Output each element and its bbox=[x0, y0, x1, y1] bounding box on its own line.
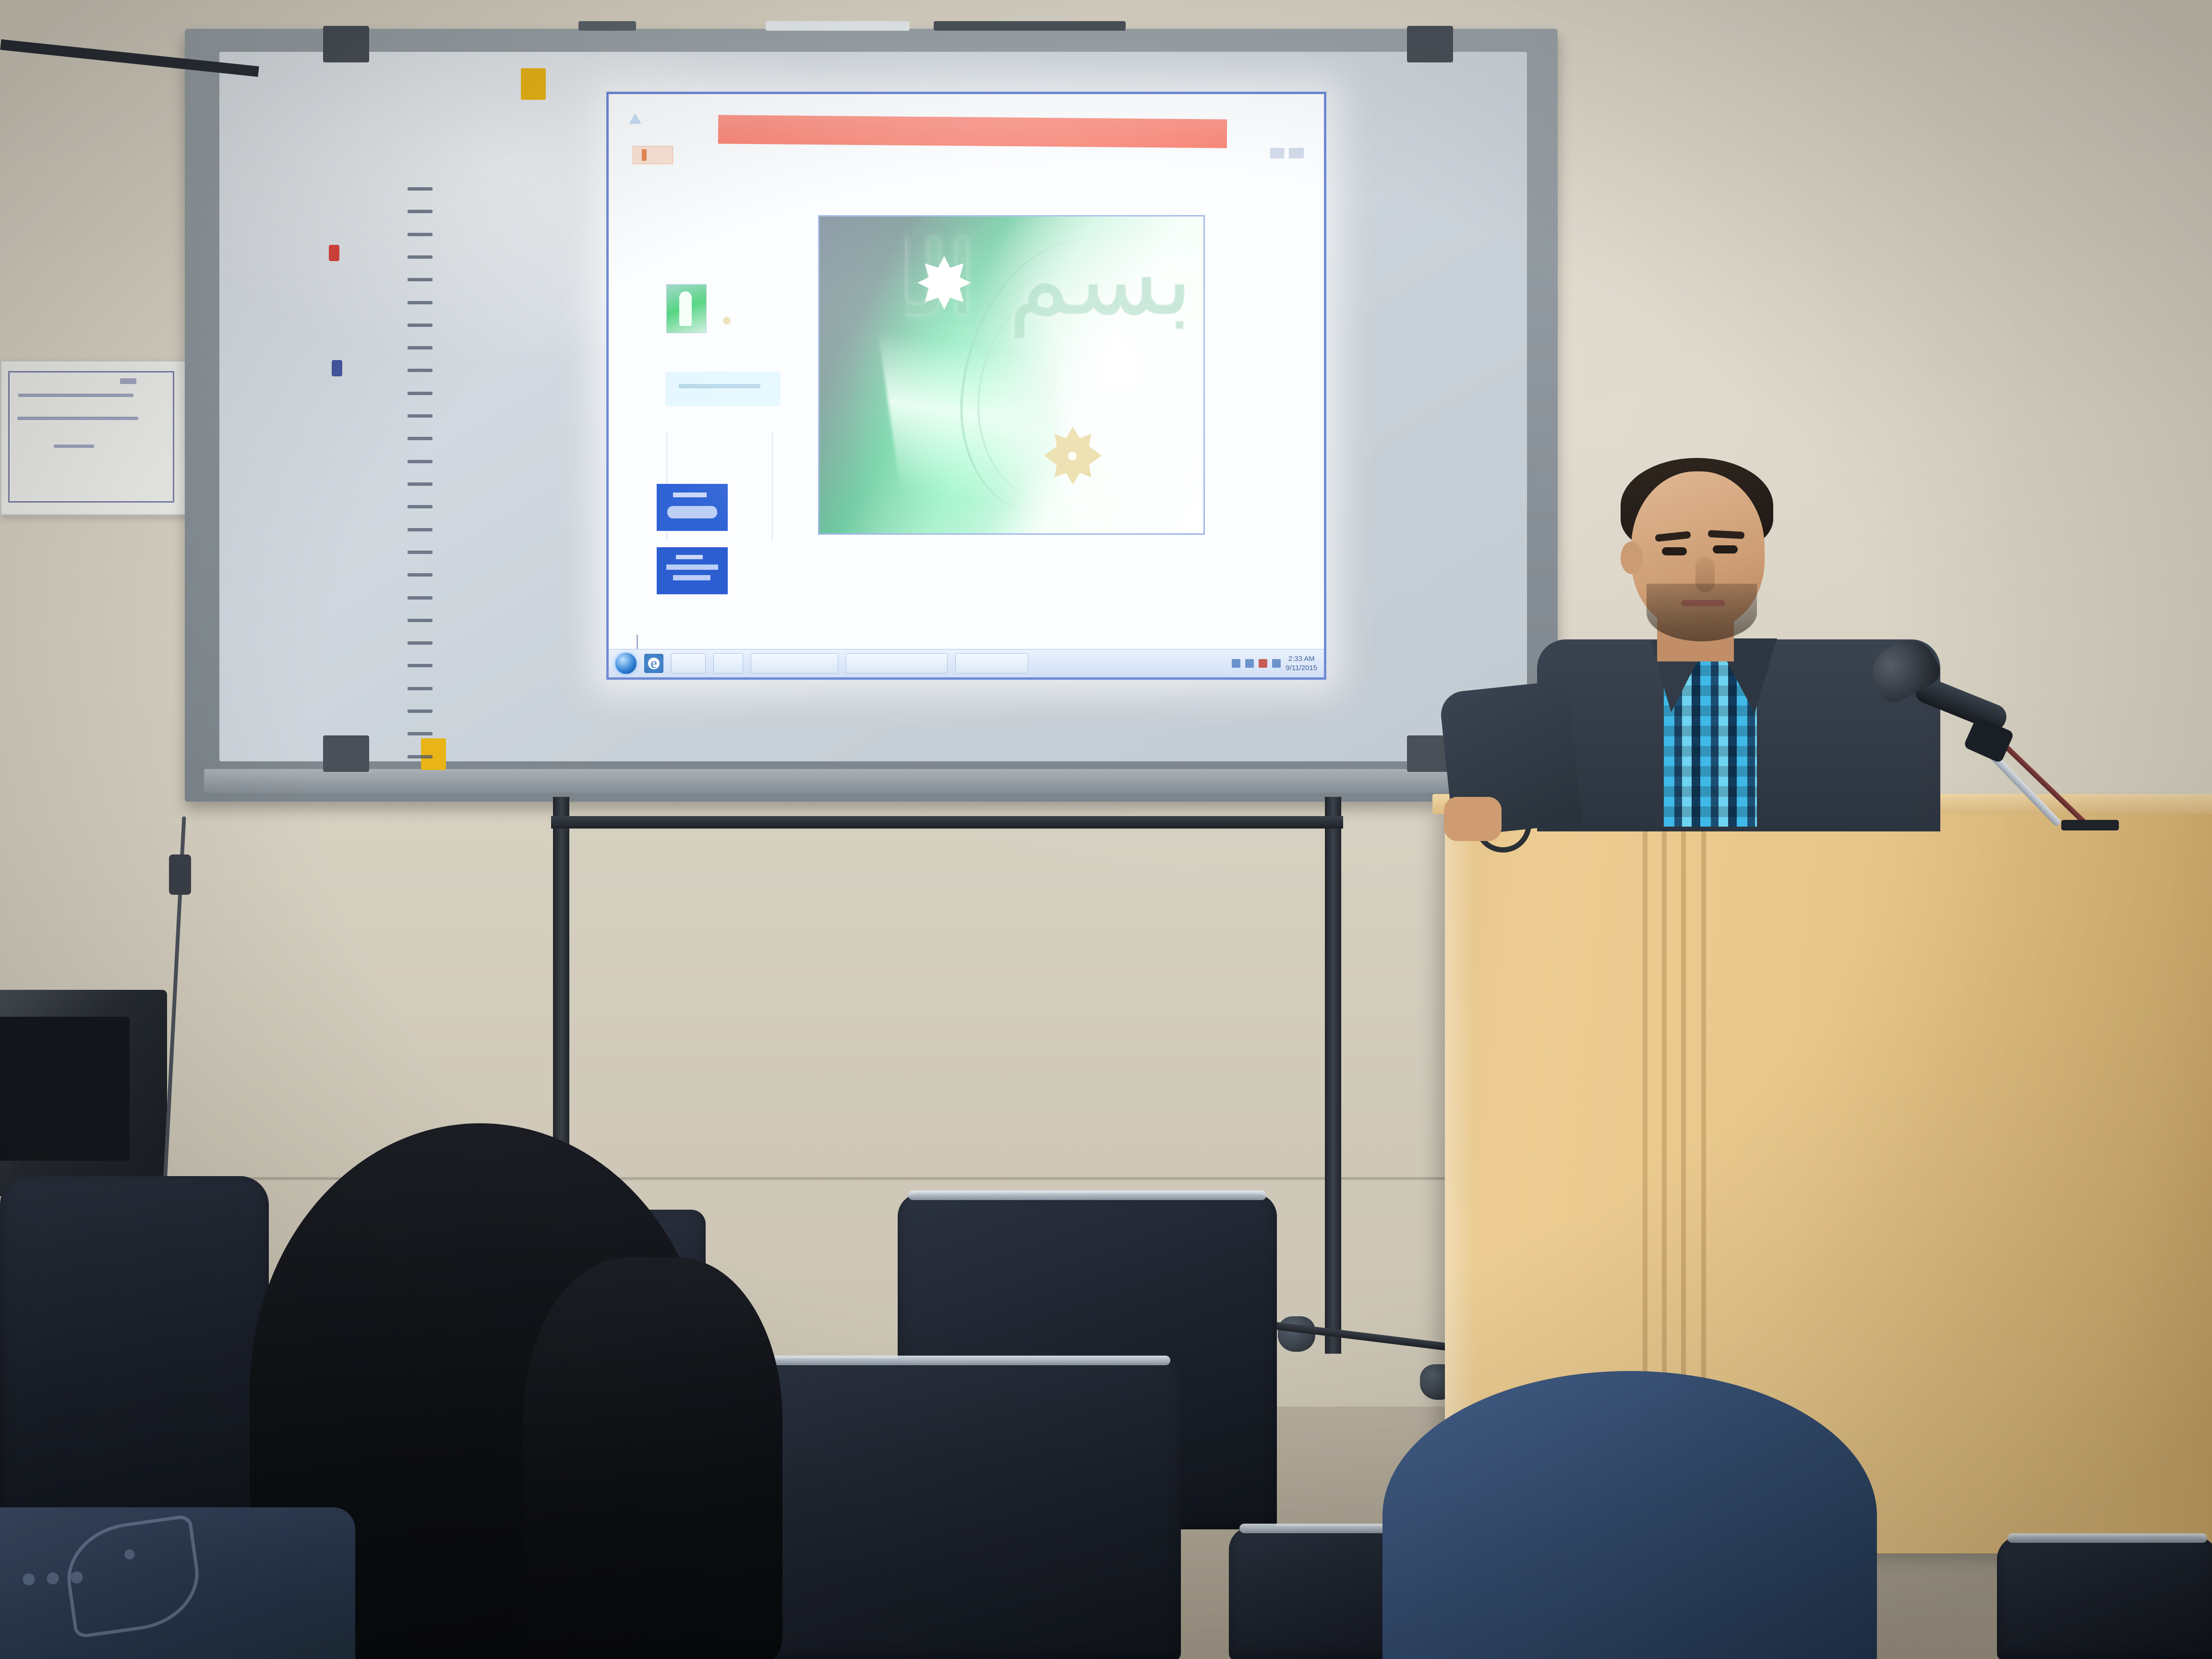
thumbnail-caption-bar[interactable] bbox=[665, 372, 781, 406]
scale-mark bbox=[408, 187, 433, 191]
corner-bracket-icon bbox=[323, 26, 369, 62]
presenter-eye bbox=[1713, 545, 1738, 553]
presenter-beard bbox=[1647, 584, 1757, 641]
scale-mark bbox=[408, 278, 433, 281]
internet-explorer-icon[interactable] bbox=[644, 654, 663, 673]
rosette-center-icon bbox=[1068, 452, 1077, 460]
presenter-hand bbox=[1444, 797, 1502, 841]
scale-mark bbox=[408, 641, 433, 645]
room-photo: بسم الله الرحمن 2:33 AM 9/11/2015 bbox=[0, 0, 2212, 1659]
projected-desktop[interactable]: بسم الله الرحمن 2:33 AM 9/11/2015 bbox=[609, 94, 1324, 677]
floor-speaker-box bbox=[0, 990, 167, 1196]
whiteboard-tool-scale[interactable] bbox=[408, 187, 437, 778]
yellow-tab bbox=[521, 68, 546, 100]
taskbar-window-button[interactable] bbox=[751, 653, 838, 673]
chair-chrome-rail bbox=[908, 1190, 1266, 1200]
presenter-mouth bbox=[1681, 600, 1725, 606]
scale-mark bbox=[408, 528, 433, 531]
whiteboard-ledge bbox=[204, 769, 1539, 793]
scale-mark bbox=[408, 505, 433, 508]
scale-mark bbox=[408, 664, 433, 667]
thumbnail-blue-slide-2[interactable] bbox=[657, 547, 728, 594]
scale-mark bbox=[408, 301, 433, 304]
scale-mark bbox=[408, 596, 433, 600]
gooseneck-microphone[interactable] bbox=[1872, 638, 2141, 840]
taskbar-window-button[interactable] bbox=[955, 653, 1028, 673]
chair-chrome-rail bbox=[2008, 1533, 2207, 1543]
chador-attendee bbox=[523, 1258, 782, 1659]
blue-patterned-chair[interactable] bbox=[0, 1507, 355, 1659]
scale-mark bbox=[408, 255, 433, 259]
bullet-dot-icon bbox=[723, 317, 731, 325]
red-marker-dot bbox=[329, 245, 339, 261]
taskbar-clock[interactable]: 2:33 AM 9/11/2015 bbox=[1286, 654, 1317, 673]
whiteboard-marker[interactable] bbox=[934, 21, 1126, 31]
taskbar-window-button[interactable] bbox=[713, 653, 743, 673]
whiteboard-stand-leg bbox=[1325, 797, 1341, 1354]
scale-mark bbox=[408, 233, 433, 236]
scale-mark bbox=[408, 369, 433, 372]
scale-mark bbox=[408, 709, 433, 713]
taskbar-window-button[interactable] bbox=[846, 653, 948, 673]
window-buttons[interactable] bbox=[1270, 148, 1304, 158]
scale-mark bbox=[408, 482, 433, 486]
language-icon[interactable] bbox=[1272, 659, 1281, 668]
network-icon[interactable] bbox=[1232, 659, 1240, 668]
app-logo-icon bbox=[629, 113, 641, 124]
chair[interactable] bbox=[0, 1176, 269, 1541]
notice-line bbox=[17, 417, 138, 420]
scale-mark bbox=[408, 392, 433, 395]
scale-mark bbox=[408, 460, 433, 463]
whiteboard-stand-crossbar bbox=[551, 816, 1343, 829]
microphone-clip bbox=[1963, 716, 2014, 764]
chair-chrome-rail bbox=[745, 1356, 1170, 1365]
scale-mark bbox=[408, 437, 433, 440]
calligraphy-script-text: بسم الله الرحمن bbox=[905, 229, 1193, 440]
clock-date: 9/11/2015 bbox=[1286, 663, 1317, 673]
clock-time: 2:33 AM bbox=[1286, 654, 1317, 663]
corner-bracket-icon bbox=[323, 735, 369, 772]
windows-taskbar[interactable]: 2:33 AM 9/11/2015 bbox=[609, 649, 1324, 677]
notice-line bbox=[54, 445, 94, 448]
flag-icon[interactable] bbox=[1259, 659, 1267, 668]
scale-mark bbox=[408, 732, 433, 735]
speaker-grille bbox=[0, 1017, 130, 1161]
thumbnail-blue-slide-1[interactable] bbox=[657, 484, 728, 531]
caster-wheel-icon bbox=[1278, 1316, 1315, 1352]
scale-mark bbox=[408, 210, 433, 213]
whiteboard-marker[interactable] bbox=[578, 21, 636, 31]
system-tray[interactable]: 2:33 AM 9/11/2015 bbox=[1232, 654, 1317, 673]
scale-mark bbox=[408, 573, 433, 577]
scale-mark bbox=[408, 346, 433, 349]
chair[interactable] bbox=[1997, 1536, 2212, 1659]
scale-mark bbox=[408, 551, 433, 554]
whiteboard-eraser[interactable] bbox=[766, 21, 910, 31]
microphone-base bbox=[2061, 820, 2119, 830]
starburst-ornament-icon bbox=[917, 256, 971, 310]
presenter-eye bbox=[1662, 547, 1687, 555]
scale-mark bbox=[408, 687, 433, 690]
blue-marker-dot bbox=[332, 360, 342, 376]
framed-notice bbox=[0, 360, 186, 516]
scale-mark bbox=[408, 324, 433, 327]
notice-inner-border bbox=[8, 371, 174, 503]
notice-line bbox=[18, 394, 133, 397]
scale-mark bbox=[408, 619, 433, 622]
scale-mark bbox=[408, 414, 433, 418]
start-orb-icon[interactable] bbox=[615, 653, 637, 674]
chair[interactable] bbox=[734, 1358, 1181, 1659]
thumbnail-figure[interactable] bbox=[666, 284, 707, 333]
bismillah-calligraphy[interactable]: بسم الله الرحمن bbox=[818, 215, 1205, 535]
volume-icon[interactable] bbox=[1245, 659, 1254, 668]
notice-stamp bbox=[120, 378, 136, 384]
scale-mark bbox=[408, 755, 433, 758]
blue-garment-attendee bbox=[1382, 1371, 1877, 1659]
page-banner bbox=[718, 115, 1227, 148]
wall-cable-clip bbox=[169, 854, 191, 895]
corner-bracket-icon bbox=[1407, 26, 1453, 62]
presenter-ear bbox=[1621, 541, 1643, 574]
tab-button[interactable] bbox=[633, 146, 673, 164]
taskbar-window-button[interactable] bbox=[671, 653, 706, 673]
